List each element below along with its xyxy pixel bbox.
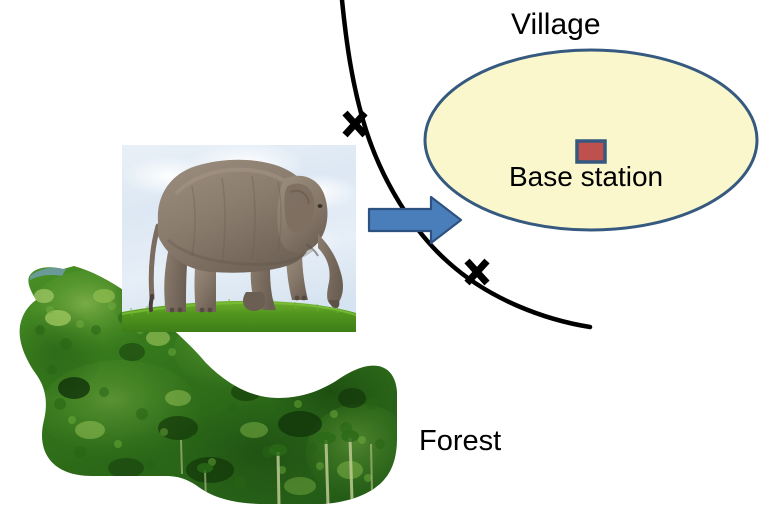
base-station-label: Base station: [509, 163, 663, 191]
elephant-photograph: [122, 142, 360, 332]
movement-arrow: [369, 197, 461, 243]
base-station-node[interactable]: [577, 141, 605, 162]
scene-svg: [0, 0, 762, 505]
diagram-canvas: Village Base station Forest: [0, 0, 762, 505]
sensor-node-x-lower: [467, 261, 487, 283]
forest-label: Forest: [419, 427, 501, 456]
village-label: Village: [511, 10, 601, 40]
